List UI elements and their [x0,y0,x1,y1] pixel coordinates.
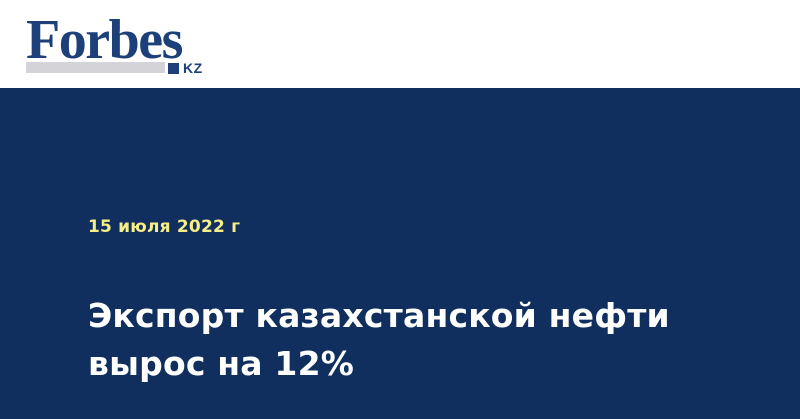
article-publish-date: 15 июля 2022 г [88,216,240,238]
forbes-wordmark: Forbes [26,12,182,68]
article-headline: Экспорт казахстанской нефти вырос на 12% [88,292,688,388]
site-header: Forbes kz [0,0,800,88]
logo-tld-group: kz [168,61,203,75]
article-share-card: Forbes kz 15 июля 2022 г Экспорт казахст… [0,0,800,419]
article-hero: 15 июля 2022 г Экспорт казахстанской неф… [0,88,800,419]
logo-tld-label: kz [183,61,203,75]
logo-underbar [26,62,165,73]
forbes-kz-logo[interactable]: Forbes kz [26,12,286,76]
navy-square-icon [168,63,179,74]
